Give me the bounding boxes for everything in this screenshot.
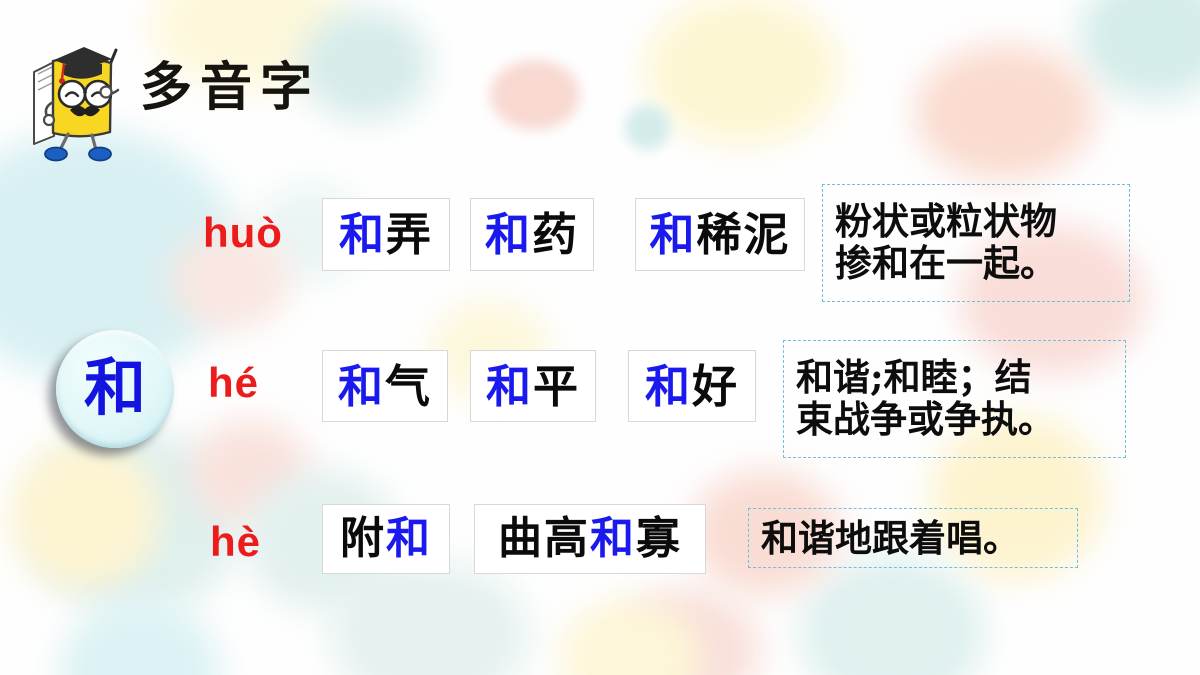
definition-box: 和谐地跟着唱。 xyxy=(748,508,1078,568)
blob-pink-left-low xyxy=(190,420,310,525)
word-box[interactable]: 和弄 xyxy=(322,198,450,271)
pinyin-he4: hè xyxy=(210,521,261,563)
blob-yellow-bottom xyxy=(560,600,700,675)
highlight-char: 和 xyxy=(485,208,532,261)
word-text: 和药 xyxy=(485,212,579,257)
word-rest: 药 xyxy=(532,208,579,261)
blob-cyan-small-top xyxy=(625,105,670,150)
word-rest: 好 xyxy=(692,360,739,413)
blob-yellow-left xyxy=(10,440,160,590)
highlight-char: 和 xyxy=(590,513,636,564)
word-text: 和气 xyxy=(338,364,432,409)
definition-text: 和谐;和睦；结 束战争或争执。 xyxy=(796,357,1117,441)
word-rest: 稀泥 xyxy=(697,208,791,261)
word-rest: 平 xyxy=(533,360,580,413)
highlight-char: 和 xyxy=(486,360,533,413)
highlight-char: 和 xyxy=(338,360,385,413)
definition-box: 粉状或粒状物 掺和在一起。 xyxy=(822,184,1130,302)
definition-text: 粉状或粒状物 掺和在一起。 xyxy=(835,201,1119,285)
blob-pink-right-top xyxy=(915,45,1095,180)
blob-cyan-bottom-right xyxy=(800,555,985,675)
definition-text: 和谐地跟着唱。 xyxy=(761,518,1069,559)
word-box[interactable]: 和稀泥 xyxy=(635,198,805,271)
blob-cyan-left-lower xyxy=(30,430,240,615)
word-rest: 弄 xyxy=(386,208,433,261)
word-text: 曲高和寡 xyxy=(498,517,682,561)
main-character-glyph: 和 xyxy=(84,357,146,419)
word-prefix: 附 xyxy=(340,513,386,564)
blob-cyan-bottom-mid xyxy=(330,560,530,675)
word-box[interactable]: 和好 xyxy=(628,350,756,422)
word-rest: 寡 xyxy=(636,513,682,564)
pinyin-huo: huò xyxy=(203,212,283,254)
definition-line: 束战争或争执。 xyxy=(796,397,1055,441)
word-box[interactable]: 曲高和寡 xyxy=(474,504,706,574)
blob-cyan-topleft xyxy=(60,600,220,675)
blob-pink-mid-top xyxy=(490,60,580,130)
word-text: 和稀泥 xyxy=(649,212,790,257)
word-prefix: 曲高 xyxy=(498,513,590,564)
word-text: 附和 xyxy=(340,517,432,561)
blob-yellow-big-top xyxy=(645,0,840,145)
highlight-char: 和 xyxy=(645,360,692,413)
pinyin-he2: hé xyxy=(208,362,259,404)
highlight-char: 和 xyxy=(386,513,432,564)
word-box[interactable]: 附和 xyxy=(322,504,450,574)
page-title: 多音字 xyxy=(140,62,320,114)
word-box[interactable]: 和气 xyxy=(322,350,448,422)
highlight-char: 和 xyxy=(339,208,386,261)
word-text: 和平 xyxy=(486,364,580,409)
definition-line: 掺和在一起。 xyxy=(835,241,1057,285)
blob-pink-bottom-mid xyxy=(610,590,760,675)
book-teacher-mascot-icon xyxy=(20,32,140,162)
highlight-char: 和 xyxy=(649,208,696,261)
definition-line: 粉状或粒状物 xyxy=(835,199,1057,243)
word-box[interactable]: 和药 xyxy=(470,198,594,271)
word-rest: 气 xyxy=(385,360,432,413)
definition-line: 和谐;和睦；结 xyxy=(796,355,1032,399)
blob-cyan-topright xyxy=(1080,0,1200,100)
definition-line: 和谐地跟着唱。 xyxy=(761,516,1020,560)
word-text: 和好 xyxy=(645,364,739,409)
word-text: 和弄 xyxy=(339,212,433,257)
definition-box: 和谐;和睦；结 束战争或争执。 xyxy=(783,340,1126,458)
main-character-badge: 和 xyxy=(56,330,174,448)
word-box[interactable]: 和平 xyxy=(470,350,596,422)
slide-canvas: 多音字 和 huò 和弄 和药 和稀泥 粉状或粒状物 掺和在一起。 hé 和气 … xyxy=(0,0,1200,675)
